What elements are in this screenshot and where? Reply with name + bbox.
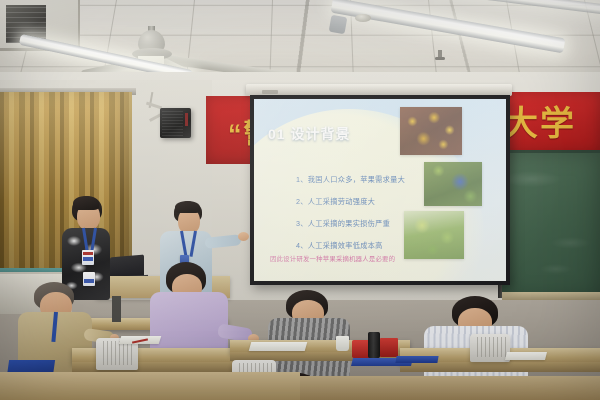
slide-photo-orchard-worker bbox=[424, 162, 482, 206]
green-chalkboard bbox=[502, 150, 600, 298]
banner-right-text: 大学 bbox=[504, 96, 576, 145]
white-cup bbox=[336, 336, 349, 351]
presentation-slide: 01 设计背景 1、我国人口众多，苹果需求量大 2、人工采摘劳动强度大 3、人工… bbox=[254, 99, 506, 281]
chair-slats bbox=[100, 341, 134, 365]
white-paper bbox=[249, 342, 308, 351]
wall-speaker bbox=[160, 108, 191, 138]
black-thermos bbox=[368, 332, 380, 358]
badge-name-bar bbox=[84, 279, 94, 283]
fluorescent-tube-endcap bbox=[329, 15, 348, 35]
slide-title: 01 设计背景 bbox=[268, 124, 350, 144]
blue-folder bbox=[395, 356, 438, 363]
chair-slats bbox=[474, 337, 506, 357]
red-box bbox=[380, 338, 398, 357]
speaker-mesh bbox=[162, 110, 183, 136]
student-badge-second bbox=[83, 272, 95, 286]
white-paper bbox=[505, 352, 547, 360]
slide-photo-apple-harvest bbox=[400, 107, 462, 155]
slide-note-text: 因此设计研发一种苹果采摘机器人是必要的 bbox=[270, 254, 395, 263]
smoke-detector bbox=[355, 14, 371, 22]
podium-leg bbox=[112, 296, 121, 322]
sprinkler-head bbox=[438, 50, 442, 59]
projection-screen-pull-tab bbox=[262, 90, 278, 94]
badge-name-bar bbox=[83, 257, 93, 261]
slide-bullet-2: 2、人工采摘劳动强度大 bbox=[296, 197, 426, 207]
chalk-dust bbox=[502, 153, 600, 298]
slide-photo-orchard-tree bbox=[404, 211, 464, 259]
student-desk-front bbox=[400, 362, 600, 372]
presenter-hair-front bbox=[175, 201, 200, 213]
badge-header-bar bbox=[83, 252, 93, 255]
presenter-hand bbox=[238, 232, 249, 241]
plastic-chair bbox=[470, 334, 510, 362]
slide-bullet-1: 1、我国人口众多，苹果需求量大 bbox=[296, 175, 426, 185]
speaker-accent-stripe bbox=[185, 113, 188, 126]
foreground-desk bbox=[0, 372, 300, 400]
student-badge bbox=[82, 250, 94, 265]
classroom-presentation-photo: “警 大学 01 设计背景 1、我国人口众多，苹果需求量大 2、人工采摘劳动强度… bbox=[0, 0, 600, 400]
foreground-desk bbox=[300, 376, 600, 400]
student-hair-front bbox=[73, 196, 99, 210]
